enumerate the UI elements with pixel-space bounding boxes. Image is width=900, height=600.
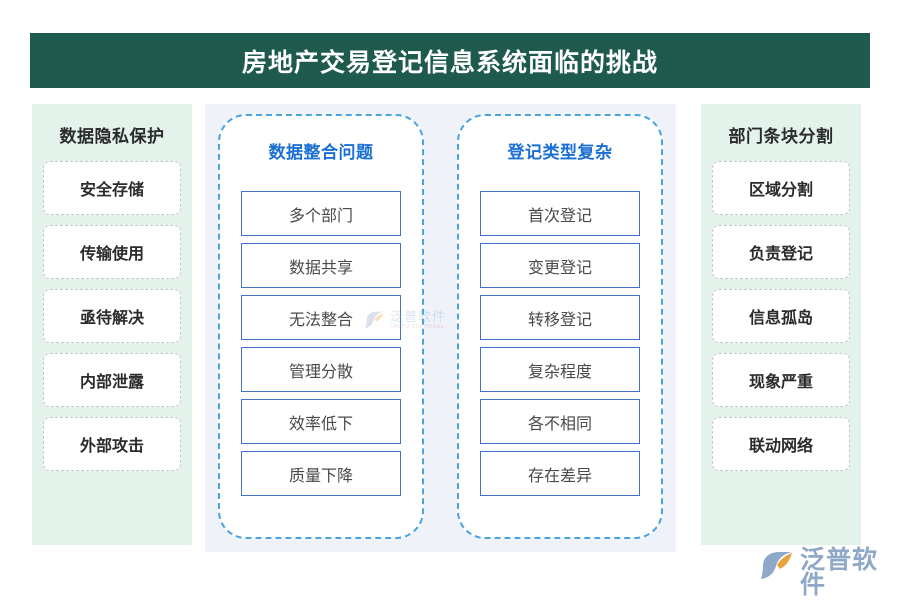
column-header-registration-types: 登记类型复杂	[508, 138, 613, 163]
column-items-registration-types: 首次登记 变更登记 转移登记 复杂程度 各不相同 存在差异	[459, 191, 661, 496]
item-box[interactable]: 首次登记	[480, 191, 640, 236]
column-data-integration: 数据整合问题 多个部门 数据共享 无法整合 管理分散 效率低下 质量下降	[218, 114, 424, 539]
logo-text-group: 泛普软件 www.fanpusoft.com	[800, 548, 900, 600]
item-box[interactable]: 无法整合	[241, 295, 401, 340]
item-box[interactable]: 多个部门	[241, 191, 401, 236]
page-title: 房地产交易登记信息系统面临的挑战	[242, 43, 658, 79]
logo-brand-name: 泛普软件	[800, 548, 900, 598]
item-box[interactable]: 效率低下	[241, 399, 401, 444]
item-box[interactable]: 外部攻击	[43, 417, 181, 471]
fanpu-logo: 泛普软件 www.fanpusoft.com	[760, 548, 900, 600]
column-items-department-segmentation: 区域分割 负责登记 信息孤岛 现象严重 联动网络	[701, 161, 861, 471]
item-box[interactable]: 管理分散	[241, 347, 401, 392]
column-header-data-integration: 数据整合问题	[269, 138, 374, 163]
item-box[interactable]: 数据共享	[241, 243, 401, 288]
item-box[interactable]: 联动网络	[712, 417, 850, 471]
title-bar: 房地产交易登记信息系统面临的挑战	[30, 33, 870, 88]
item-box[interactable]: 转移登记	[480, 295, 640, 340]
item-box[interactable]: 安全存储	[43, 161, 181, 215]
item-box[interactable]: 信息孤岛	[712, 289, 850, 343]
item-box[interactable]: 存在差异	[480, 451, 640, 496]
item-box[interactable]: 内部泄露	[43, 353, 181, 407]
column-header-data-privacy: 数据隐私保护	[60, 122, 165, 147]
column-registration-types: 登记类型复杂 首次登记 变更登记 转移登记 复杂程度 各不相同 存在差异	[457, 114, 663, 539]
item-box[interactable]: 复杂程度	[480, 347, 640, 392]
item-box[interactable]: 变更登记	[480, 243, 640, 288]
column-data-privacy: 数据隐私保护 安全存储 传输使用 亟待解决 内部泄露 外部攻击	[32, 104, 192, 545]
item-box[interactable]: 现象严重	[712, 353, 850, 407]
item-box[interactable]: 质量下降	[241, 451, 401, 496]
infographic-canvas: 房地产交易登记信息系统面临的挑战 数据隐私保护 安全存储 传输使用 亟待解决 内…	[0, 0, 900, 600]
column-department-segmentation: 部门条块分割 区域分割 负责登记 信息孤岛 现象严重 联动网络	[701, 104, 861, 545]
column-items-data-integration: 多个部门 数据共享 无法整合 管理分散 效率低下 质量下降	[220, 191, 422, 496]
item-box[interactable]: 传输使用	[43, 225, 181, 279]
item-box[interactable]: 负责登记	[712, 225, 850, 279]
column-items-data-privacy: 安全存储 传输使用 亟待解决 内部泄露 外部攻击	[32, 161, 192, 471]
fanpu-logo-icon	[760, 550, 794, 580]
middle-panel: 数据整合问题 多个部门 数据共享 无法整合 管理分散 效率低下 质量下降 登记类…	[205, 104, 676, 552]
item-box[interactable]: 各不相同	[480, 399, 640, 444]
column-header-department-segmentation: 部门条块分割	[729, 122, 834, 147]
item-box[interactable]: 区域分割	[712, 161, 850, 215]
item-box[interactable]: 亟待解决	[43, 289, 181, 343]
